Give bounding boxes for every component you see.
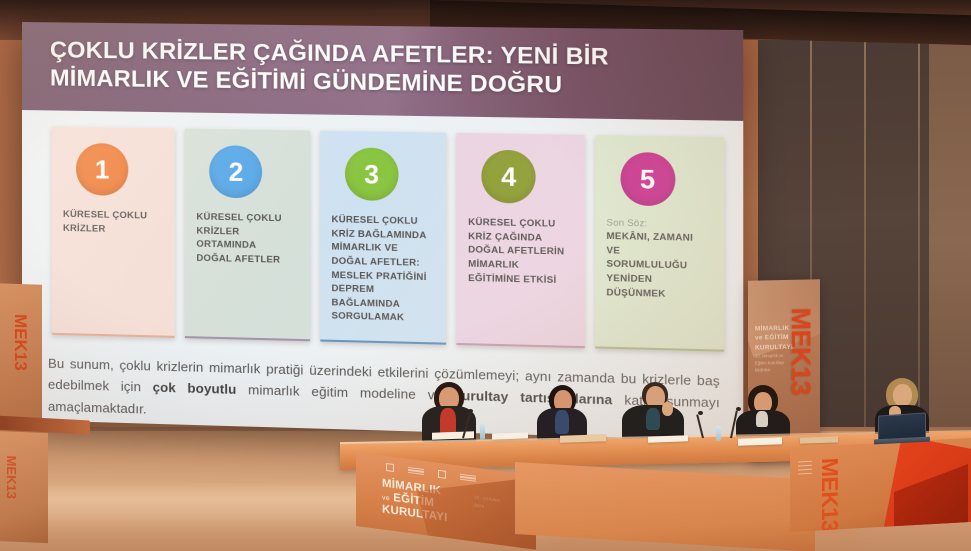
slide-card-4: 4 KÜRESEL ÇOKLU KRİZ ÇAĞINDA DOĞAL AFETL…: [457, 133, 585, 348]
card-number-circle-4: 4: [482, 150, 536, 204]
paragraph-bold1: çok boyutlu: [153, 380, 237, 397]
panelist-2-shirt: [555, 410, 569, 434]
card-text-3: KÜRESEL ÇOKLU KRİZ BAĞLAMINDA MİMARLIK V…: [331, 212, 437, 325]
panelist-4-collar: [756, 411, 768, 427]
left-banner-lower-mek-label: MEK13: [4, 455, 19, 499]
slide-card-2: 2 KÜRESEL ÇOKLU KRİZLER ORTAMINDA DOĞAL …: [185, 129, 310, 342]
logo-mark-3: [438, 470, 446, 479]
paper-stack-2: [492, 432, 528, 439]
water-bottle-2: [716, 426, 721, 441]
water-bottle-1: [480, 424, 485, 440]
left-banner-lower: MEK13: [0, 431, 48, 543]
slide-title: ÇOKLU KRİZLER ÇAĞINDA AFETLER: YENİ BİR …: [50, 36, 718, 101]
slide-cards-row: 1 KÜRESEL ÇOKLU KRİZLER 2 KÜRESEL ÇOKLU …: [52, 126, 724, 351]
card-label-5: Son Söz:: [606, 217, 714, 229]
table-right-mek-label: MEK13: [816, 457, 843, 532]
table-front-title-ve: ve: [382, 494, 390, 502]
table-right-logos: [798, 461, 812, 475]
projection-screen: ÇOKLU KRİZLER ÇAĞINDA AFETLER: YENİ BİR …: [22, 22, 743, 441]
table-right-panel: MEK13: [790, 438, 971, 532]
card-text-1: KÜRESEL ÇOKLU KRİZLER: [63, 207, 166, 236]
microphone-head-2: [698, 411, 703, 415]
slide-title-band: ÇOKLU KRİZLER ÇAĞINDA AFETLER: YENİ BİR …: [22, 22, 743, 121]
card-underline-2: [185, 336, 310, 342]
conference-hall-scene: ÇOKLU KRİZLER ÇAĞINDA AFETLER: YENİ BİR …: [0, 0, 971, 551]
slide-card-5: 5 Son Söz: MEKÂNI, ZAMANI VE SORUMLULUĞU…: [595, 135, 724, 352]
rollup-banner-mek-label: MEK13: [785, 307, 816, 395]
card-underline-1: [52, 332, 175, 338]
slide-card-1: 1 KÜRESEL ÇOKLU KRİZLER: [52, 126, 175, 337]
panelist-3-hand: [662, 402, 673, 416]
card-underline-5: [595, 346, 724, 352]
panelist-5-head: [893, 384, 912, 406]
left-banner-mek-label: MEK13: [10, 314, 30, 371]
logo-mark-2: [408, 467, 424, 476]
paper-stack-1: [432, 431, 474, 439]
panelist-3-shirt: [646, 408, 660, 430]
card-underline-4: [457, 342, 585, 348]
card-text-2: KÜRESEL ÇOKLU KRİZLER ORTAMINDA DOĞAL AF…: [196, 209, 300, 266]
logo-mark-1: [386, 463, 394, 472]
card-underline-3: [320, 339, 446, 345]
card-number-circle-2: 2: [210, 145, 263, 198]
card-number-circle-1: 1: [76, 143, 128, 196]
card-text-5: MEKÂNI, ZAMANI VE SORUMLULUĞU YENİDEN DÜ…: [606, 229, 714, 301]
card-number-circle-5: 5: [620, 152, 675, 206]
far-right-wall: [929, 22, 971, 462]
microphone-head-3: [736, 407, 741, 411]
slide-card-3: 3 KÜRESEL ÇOKLU KRİZ BAĞLAMINDA MİMARLIK…: [320, 131, 446, 345]
card-text-4: KÜRESEL ÇOKLU KRİZ ÇAĞINDA DOĞAL AFETLER…: [468, 215, 575, 287]
microphone-head-1: [468, 409, 473, 413]
card-number-circle-3: 3: [345, 147, 399, 201]
logo-mark-4: [460, 473, 476, 482]
